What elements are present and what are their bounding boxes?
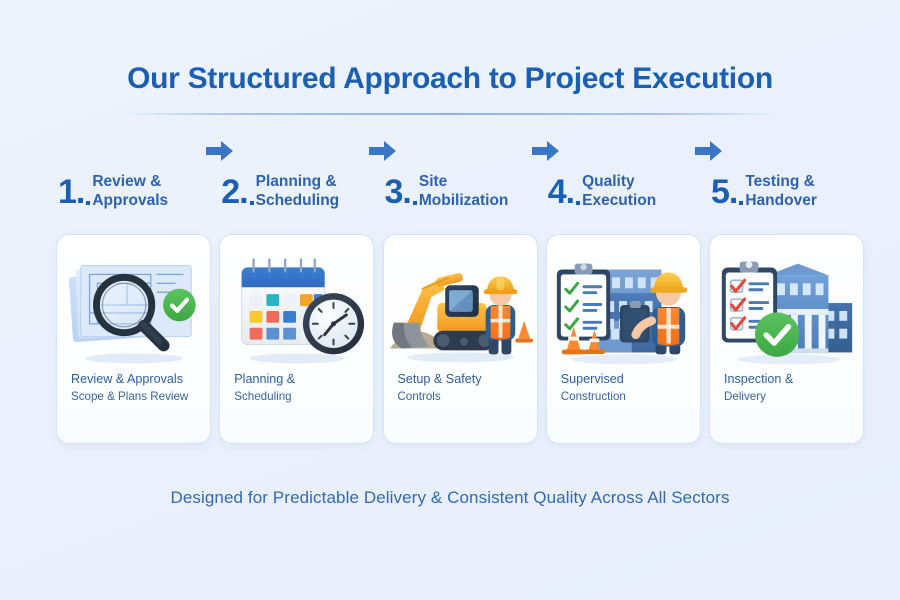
step-2-caption-main: Planning & [234,371,363,388]
step-2-caption-sub: Scheduling [234,389,363,405]
step-2-caption: Planning & Scheduling [234,371,363,405]
step-3-caption: Setup & Safety Controls [398,371,527,405]
step-3-card[interactable]: Setup & Safety Controls [383,234,538,444]
step-1-review-approvals[interactable]: 1. Review & Approvals [56,172,211,444]
step-3-caption-sub: Controls [398,389,527,405]
step-5-caption-main: Inspection & [724,371,853,388]
blueprints-magnifier-check-icon [57,241,210,373]
step-5-caption-sub: Delivery [724,389,853,405]
step-5-testing-handover[interactable]: 5. Testing & Handover [709,172,864,444]
step-1-caption-main: Review & Approvals [71,371,200,388]
step-5-card[interactable]: Inspection & Delivery [709,234,864,444]
footer-block: Designed for Predictable Delivery & Cons… [0,488,900,508]
step-2-card[interactable]: Planning & Scheduling [219,234,374,444]
step-5-header: 5. Testing & Handover [709,172,864,234]
step-1-header: 1. Review & Approvals [56,172,211,234]
step-1-number: 1. [58,176,92,209]
step-3-site-mobilization[interactable]: 3. Site Mobilization [383,172,538,444]
step-3-label: Site Mobilization [419,172,509,211]
process-infographic: Our Structured Approach to Project Execu… [0,0,900,600]
arrow-right-icon-2 [369,140,397,162]
step-5-caption: Inspection & Delivery [724,371,853,405]
step-1-label: Review & Approvals [92,172,168,211]
step-2-label: Planning & Scheduling [256,172,340,211]
step-1-card[interactable]: Review & Approvals Scope & Plans Review [56,234,211,444]
arrow-right-icon-1 [206,140,234,162]
title-divider [120,113,780,115]
page-title: Our Structured Approach to Project Execu… [0,62,900,97]
step-5-number: 5. [711,176,745,209]
step-1-label-line2: Approvals [92,192,168,211]
step-1-caption: Review & Approvals Scope & Plans Review [71,371,200,405]
step-2-planning-scheduling[interactable]: 2. Planning & Scheduling [219,172,374,444]
step-3-label-line1: Site [419,173,509,192]
step-4-label-line1: Quality [582,173,656,192]
step-5-label-line2: Handover [745,192,817,211]
steps-row: 1. Review & Approvals [56,172,864,444]
step-3-caption-main: Setup & Safety [398,371,527,388]
title-block: Our Structured Approach to Project Execu… [0,62,900,115]
step-5-label-line1: Testing & [745,173,817,192]
step-3-number: 3. [385,176,419,209]
step-4-label-line2: Execution [582,192,656,211]
step-5-label: Testing & Handover [745,172,817,211]
calendar-clock-icon [220,241,373,373]
step-4-label: Quality Execution [582,172,656,211]
step-4-header: 4. Quality Execution [546,172,701,234]
checklist-building-approved-icon [710,241,863,373]
step-2-label-line1: Planning & [256,173,340,192]
step-4-card[interactable]: Supervised Construction [546,234,701,444]
step-4-quality-execution[interactable]: 4. Quality Execution [546,172,701,444]
step-4-caption: Supervised Construction [561,371,690,405]
step-1-caption-sub: Scope & Plans Review [71,389,200,405]
step-3-header: 3. Site Mobilization [383,172,538,234]
step-3-label-line2: Mobilization [419,192,509,211]
step-1-label-line1: Review & [92,173,168,192]
step-2-label-line2: Scheduling [256,192,340,211]
step-2-number: 2. [221,176,255,209]
step-4-number: 4. [548,176,582,209]
step-4-caption-main: Supervised [561,371,690,388]
footer-tagline: Designed for Predictable Delivery & Cons… [0,488,900,508]
step-4-caption-sub: Construction [561,389,690,405]
excavator-worker-icon [384,241,537,373]
step-2-header: 2. Planning & Scheduling [219,172,374,234]
checklist-building-inspector-icon [547,241,700,373]
arrow-right-icon-4 [695,140,723,162]
arrow-right-icon-3 [532,140,560,162]
